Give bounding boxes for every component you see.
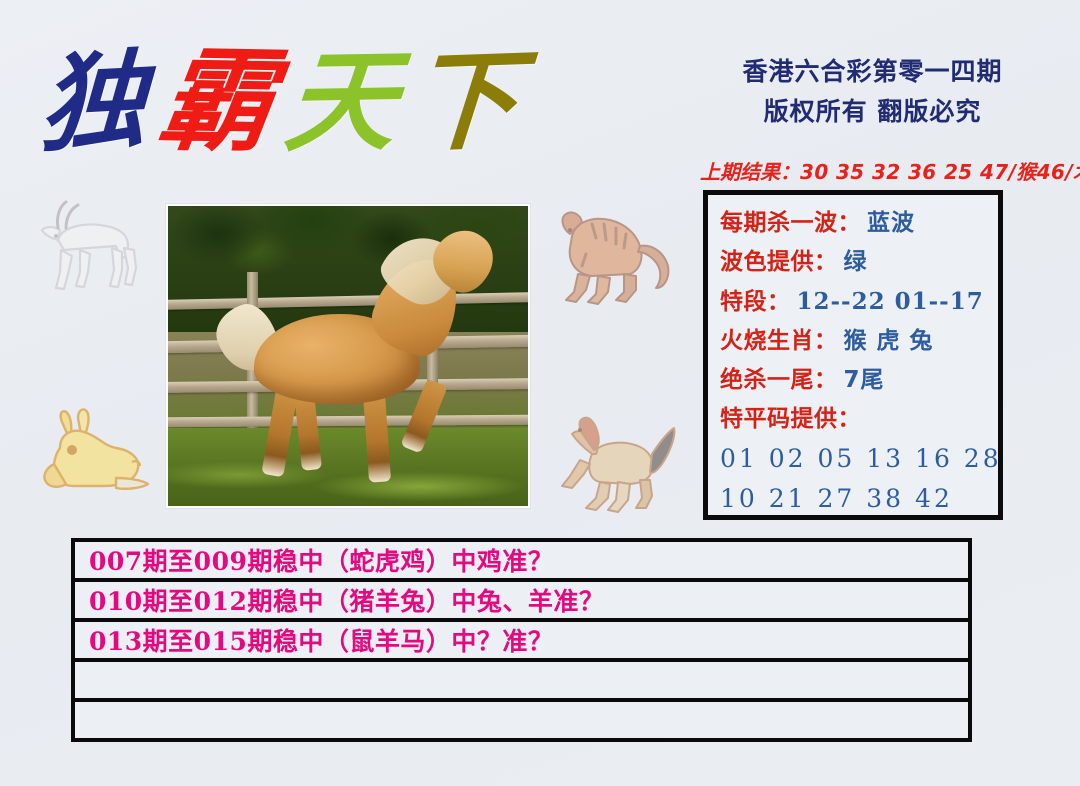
info-row-value: 绿 <box>844 249 868 275</box>
horse-photo <box>166 204 530 508</box>
rabbit-zodiac-icon <box>38 406 158 506</box>
info-row: 每期杀一波：蓝波 <box>720 204 998 243</box>
special-numbers-line-1: 01 02 05 13 16 28 <box>720 439 998 479</box>
poster-title: 独 霸 天 下 <box>40 34 700 169</box>
poster-canvas: 独 霸 天 下 香港六合彩第零一四期 版权所有 翻版必究 上期结果：30 35 … <box>0 0 1080 786</box>
info-row-value: 12--22 01--17 <box>797 288 984 315</box>
info-row-label: 波色提供： <box>720 249 838 275</box>
previous-result: 上期结果：30 35 32 36 25 47/猴46/木/红 <box>700 156 1048 185</box>
title-char-4: 下 <box>406 46 522 158</box>
title-char-1: 独 <box>38 46 148 157</box>
table-row: 007期至009期稳中（蛇虎鸡）中鸡准？ <box>75 542 968 582</box>
horse-zodiac-icon <box>556 414 682 518</box>
info-row-value: 7尾 <box>844 367 885 393</box>
info-row-value: 蓝波 <box>867 210 915 236</box>
horse-figure <box>168 206 528 506</box>
horse-leg <box>400 379 447 454</box>
info-row: 火烧生肖：猴 虎 兔 <box>720 322 998 361</box>
prediction-text: 013期至015期稳中（鼠羊马）中？准？ <box>89 622 553 658</box>
info-row-label: 火烧生肖： <box>720 328 838 354</box>
header-text-block: 香港六合彩第零一四期 版权所有 翻版必究 <box>700 52 1045 132</box>
prediction-table: 007期至009期稳中（蛇虎鸡）中鸡准？ 010期至012期稳中（猪羊兔）中兔、… <box>71 538 972 742</box>
goat-zodiac-icon <box>28 196 146 306</box>
info-row: 波色提供：绿 <box>720 243 998 282</box>
tips-info-box: 每期杀一波：蓝波 波色提供：绿 特段：12--22 01--17 火烧生肖：猴 … <box>703 190 1003 520</box>
info-row: 特段：12--22 01--17 <box>720 282 998 322</box>
horse-leg <box>363 391 391 482</box>
tiger-zodiac-icon <box>552 200 678 312</box>
info-row-value: 猴 虎 兔 <box>844 328 934 354</box>
prediction-text: 010期至012期稳中（猪羊兔）中兔、羊准？ <box>89 582 604 618</box>
prediction-text: 007期至009期稳中（蛇虎鸡）中鸡准？ <box>89 542 553 578</box>
info-row-label: 特段： <box>720 289 791 315</box>
info-row-label: 绝杀一尾： <box>720 367 838 393</box>
horse-photo-scene <box>168 206 528 506</box>
issue-line: 香港六合彩第零一四期 <box>700 52 1045 92</box>
table-row: 013期至015期稳中（鼠羊马）中？准？ <box>75 622 968 662</box>
info-row: 绝杀一尾：7尾 <box>720 361 998 400</box>
copyright-line: 版权所有 翻版必究 <box>700 92 1045 132</box>
info-row: 特平码提供： <box>720 400 998 439</box>
info-row-label: 特平码提供： <box>720 406 861 432</box>
title-char-3: 天 <box>281 46 401 158</box>
info-row-label: 每期杀一波： <box>720 210 861 236</box>
title-char-2: 霸 <box>152 45 279 159</box>
horse-leg <box>294 391 322 471</box>
table-row <box>75 702 968 742</box>
table-row <box>75 662 968 702</box>
special-numbers-line-2: 10 21 27 38 42 <box>720 479 998 519</box>
table-row: 010期至012期稳中（猪羊兔）中兔、羊准？ <box>75 582 968 622</box>
previous-result-value: 30 35 32 36 25 47/猴46/木/红 <box>800 160 1080 184</box>
previous-result-label: 上期结果： <box>700 160 800 184</box>
